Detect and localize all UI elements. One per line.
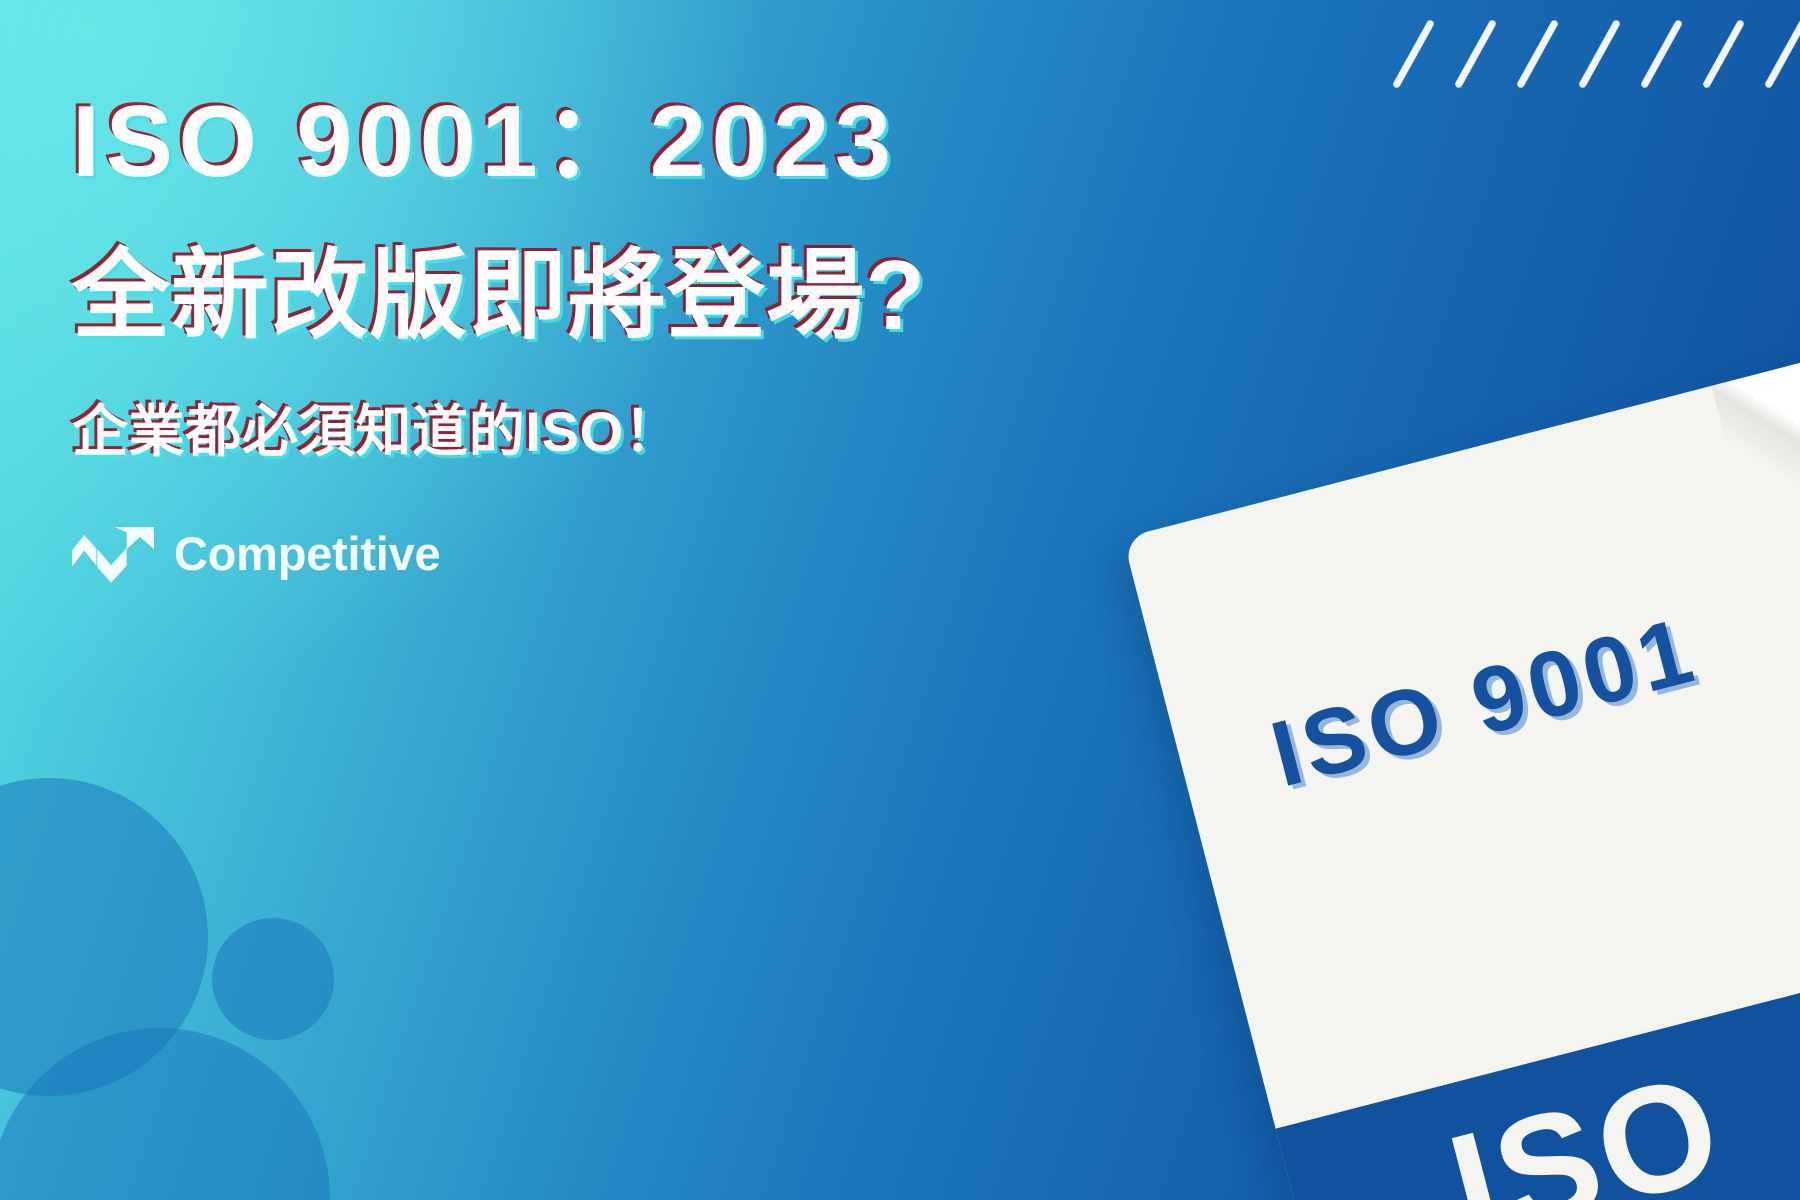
decor-stripe <box>1640 19 1683 89</box>
decor-stripe <box>1764 19 1800 89</box>
decor-stripe <box>1392 19 1435 89</box>
diagonal-stripes-icon <box>1080 0 1800 120</box>
decor-stripe <box>1702 19 1745 89</box>
decor-circle-small <box>212 918 334 1040</box>
page-tagline: 企業都必須知道的ISO！ <box>72 404 1112 474</box>
poster-copy-block: ISO 9001：2023 全新改版即將登場? 企業都必須知道的ISO！ Com… <box>72 92 1112 584</box>
decor-stripe <box>1516 19 1559 89</box>
document-code-label: ISO 9001 <box>1261 596 1708 808</box>
document-card: ISO 9001 ISO <box>1123 348 1800 1200</box>
overlapping-circles-icon <box>0 730 420 1200</box>
decor-stripe <box>1454 19 1497 89</box>
decor-stripe <box>1578 19 1621 89</box>
page-subtitle: 全新改版即將登場? <box>72 246 1112 362</box>
poster-canvas: ISO 9001：2023 全新改版即將登場? 企業都必須知道的ISO！ Com… <box>0 0 1800 1200</box>
folded-corner-icon <box>1711 348 1800 533</box>
brand-logo: Competitive <box>72 522 1112 584</box>
iso-document-graphic: ISO 9001 ISO <box>1123 348 1800 1200</box>
document-band-label: ISO <box>1436 1050 1736 1200</box>
zigzag-arrow-logo-icon <box>72 522 154 584</box>
brand-name: Competitive <box>174 526 440 581</box>
page-title: ISO 9001：2023 <box>72 92 1112 210</box>
